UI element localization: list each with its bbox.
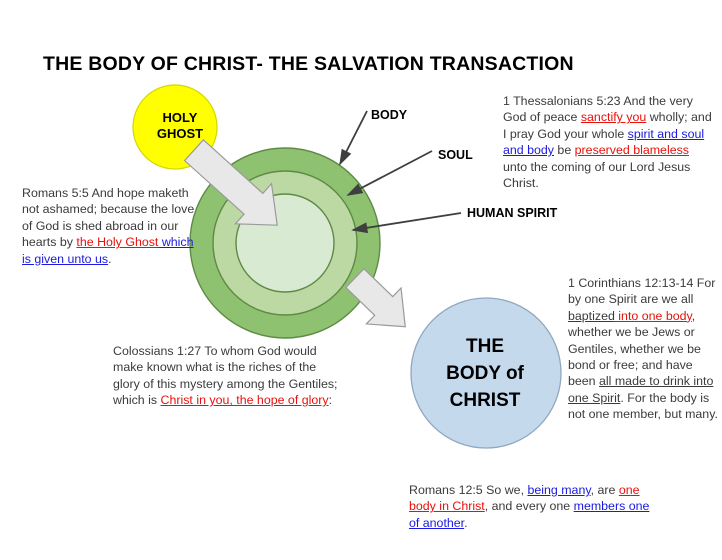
scripture-segment-1: sanctify you: [581, 110, 646, 124]
body-of-christ-label-line-2: BODY of: [430, 360, 540, 387]
scripture-segment-1: the Holy Ghost: [76, 235, 158, 249]
holy-ghost-label-line-1: HOLY: [140, 110, 220, 126]
scripture-segment-4: , and every one: [485, 499, 574, 513]
scripture-romans-5-5: Romans 5:5 And hope maketh not ashamed; …: [22, 185, 200, 267]
label-body: BODY: [371, 108, 407, 122]
scripture-colossians-1-27: Colossians 1:27 To whom God would make k…: [113, 343, 339, 409]
scripture-segment-6: unto the coming of our Lord Jesus Christ…: [503, 160, 690, 190]
scripture-segment-0: 1 Corinthians 12:13-14 For by one Spirit…: [568, 276, 715, 306]
body-of-christ-label: THE BODY of CHRIST: [430, 333, 540, 414]
scripture-romans-12-5: Romans 12:5 So we, being many, are one b…: [409, 482, 659, 531]
leader-line-body: [340, 111, 367, 164]
label-human-spirit: HUMAN SPIRIT: [467, 206, 557, 220]
holy-ghost-label: HOLY GHOST: [140, 110, 220, 142]
scripture-segment-6: .: [464, 516, 467, 530]
scripture-segment-1: being many: [527, 483, 590, 497]
scripture-segment-2: , are: [591, 483, 619, 497]
scripture-segment-3: .: [108, 252, 111, 266]
scripture-segment-1: baptized: [568, 309, 615, 323]
scripture-1-thessalonians-5-23: 1 Thessalonians 5:23 And the very God of…: [503, 93, 715, 191]
page-title: THE BODY OF CHRIST- THE SALVATION TRANSA…: [43, 53, 574, 76]
leader-line-soul: [348, 151, 432, 195]
label-soul: SOUL: [438, 148, 473, 162]
scripture-segment-5: preserved blameless: [575, 143, 689, 157]
body-of-christ-label-line-1: THE: [430, 333, 540, 360]
scripture-segment-0: Romans 12:5 So we,: [409, 483, 527, 497]
scripture-1-corinthians-12-13-14: 1 Corinthians 12:13-14 For by one Spirit…: [568, 275, 718, 423]
scripture-segment-2: into one body: [615, 309, 692, 323]
scripture-segment-1: Christ in you, the hope of glory: [161, 393, 329, 407]
holy-ghost-label-line-2: GHOST: [140, 126, 220, 142]
scripture-segment-2: :: [329, 393, 332, 407]
body-of-christ-label-line-3: CHRIST: [430, 387, 540, 414]
scripture-segment-4: be: [554, 143, 575, 157]
diagram-canvas: THE BODY OF CHRIST- THE SALVATION TRANSA…: [0, 0, 722, 560]
